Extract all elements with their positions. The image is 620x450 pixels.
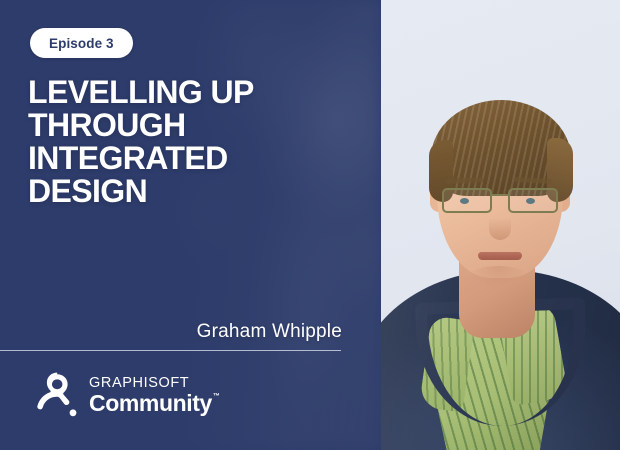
podcast-episode-card: Episode 3 LEVELLING UP THROUGH INTEGRATE… (0, 0, 620, 450)
title-line-3: INTEGRATED (28, 142, 358, 175)
trademark-symbol: ™ (213, 393, 220, 400)
portrait-nose (489, 218, 511, 240)
logo-wordmark: GRAPHISOFT Community ™ (89, 375, 220, 415)
speaker-name: Graham Whipple (197, 321, 342, 343)
portrait-mouth (478, 252, 522, 260)
episode-title: LEVELLING UP THROUGH INTEGRATED DESIGN (28, 76, 358, 208)
portrait-glasses (438, 186, 564, 216)
portrait-glasses-bridge (492, 194, 508, 196)
left-panel-content: Episode 3 LEVELLING UP THROUGH INTEGRATE… (0, 0, 381, 450)
portrait-panel (381, 0, 620, 450)
portrait-eye-right (526, 198, 535, 204)
title-line-4: DESIGN (28, 175, 358, 208)
episode-badge: Episode 3 (30, 28, 133, 58)
speaker-portrait-photo (381, 0, 620, 450)
logo-product-name: Community (89, 391, 212, 415)
divider-line (0, 350, 341, 351)
person-avatar-icon (34, 370, 80, 420)
portrait-chin-shading (467, 266, 529, 288)
portrait-eye-left (460, 198, 469, 204)
logo-product-row: Community ™ (89, 391, 220, 415)
left-info-panel: Episode 3 LEVELLING UP THROUGH INTEGRATE… (0, 0, 381, 450)
graphisoft-community-logo: GRAPHISOFT Community ™ (34, 370, 220, 420)
title-line-1: LEVELLING UP (28, 76, 358, 109)
logo-brand-name: GRAPHISOFT (89, 375, 220, 391)
title-line-2: THROUGH (28, 109, 358, 142)
